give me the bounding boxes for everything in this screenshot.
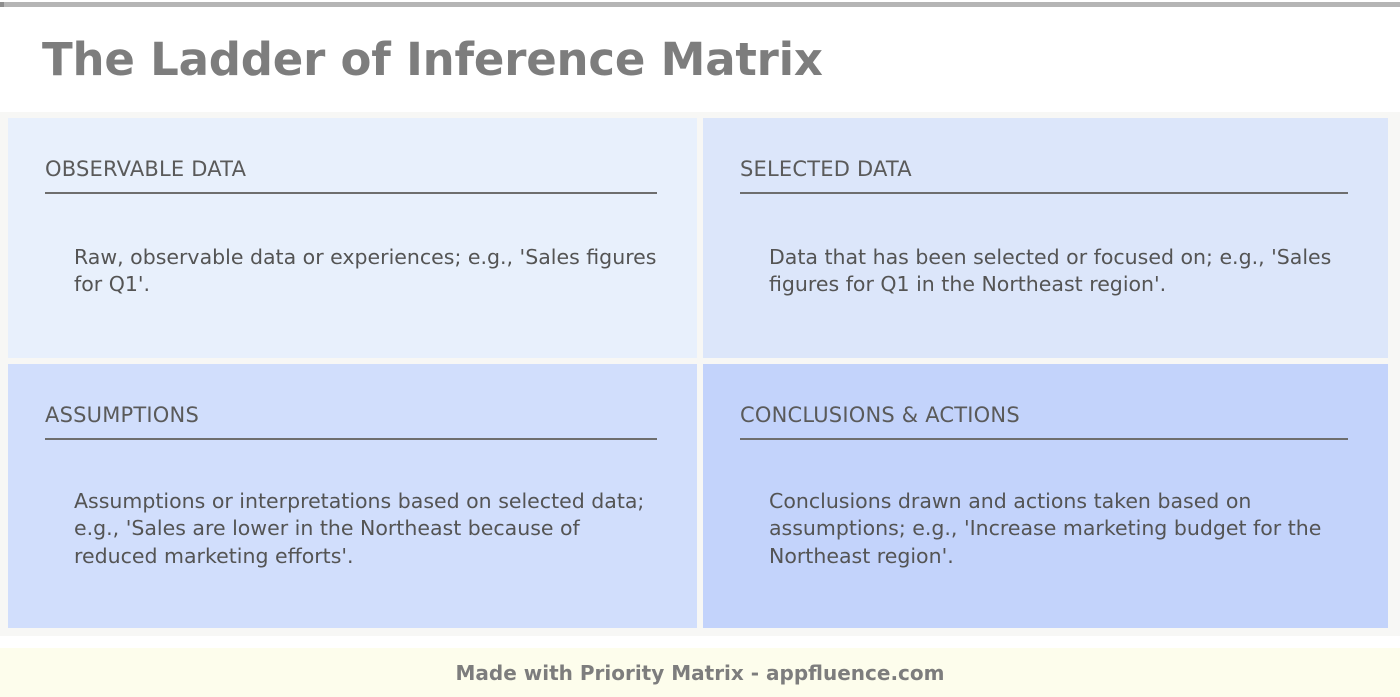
quadrant-selected-data-header: SELECTED DATA (740, 158, 1348, 181)
quadrant-selected-data-rule (740, 192, 1348, 194)
quadrant-assumptions[interactable]: ASSUMPTIONS Assumptions or interpretatio… (8, 364, 697, 628)
quadrant-assumptions-rule (45, 438, 657, 440)
page-title: The Ladder of Inference Matrix (42, 33, 823, 86)
quadrant-conclusions-actions-rule (740, 438, 1348, 440)
quadrant-observable-data-header: OBSERVABLE DATA (45, 158, 657, 181)
quadrant-assumptions-inner: ASSUMPTIONS Assumptions or interpretatio… (8, 364, 697, 570)
quadrant-observable-data-rule (45, 192, 657, 194)
matrix-grid: OBSERVABLE DATA Raw, observable data or … (0, 112, 1400, 636)
quadrant-conclusions-actions-header: CONCLUSIONS & ACTIONS (740, 404, 1348, 427)
quadrant-conclusions-actions[interactable]: CONCLUSIONS & ACTIONS Conclusions drawn … (703, 364, 1388, 628)
quadrant-observable-data[interactable]: OBSERVABLE DATA Raw, observable data or … (8, 118, 697, 358)
page-header: The Ladder of Inference Matrix (0, 7, 1400, 112)
quadrant-assumptions-body: Assumptions or interpretations based on … (74, 488, 657, 570)
ladder-of-inference-matrix-page: The Ladder of Inference Matrix OBSERVABL… (0, 0, 1400, 697)
quadrant-assumptions-header: ASSUMPTIONS (45, 404, 657, 427)
quadrant-observable-data-inner: OBSERVABLE DATA Raw, observable data or … (8, 118, 697, 299)
quadrant-selected-data-inner: SELECTED DATA Data that has been selecte… (703, 118, 1388, 299)
page-footer: Made with Priority Matrix - appfluence.c… (0, 648, 1400, 697)
quadrant-selected-data-body: Data that has been selected or focused o… (769, 244, 1348, 299)
footer-attribution[interactable]: Made with Priority Matrix - appfluence.c… (456, 661, 945, 685)
quadrant-conclusions-actions-body: Conclusions drawn and actions taken base… (769, 488, 1348, 570)
quadrant-selected-data[interactable]: SELECTED DATA Data that has been selecte… (703, 118, 1388, 358)
quadrant-observable-data-body: Raw, observable data or experiences; e.g… (74, 244, 657, 299)
quadrant-conclusions-actions-inner: CONCLUSIONS & ACTIONS Conclusions drawn … (703, 364, 1388, 570)
